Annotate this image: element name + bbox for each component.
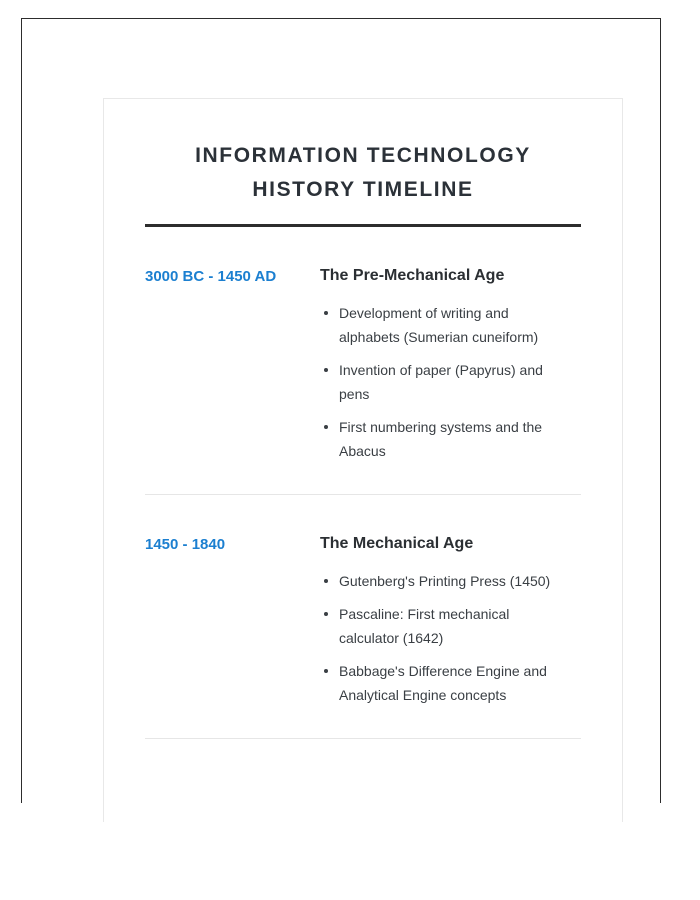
page-title: INFORMATION TECHNOLOGY HISTORY TIMELINE (145, 99, 581, 207)
list-item: Development of writing and alphabets (Su… (320, 301, 551, 349)
timeline-entry: 1450 - 1840 The Mechanical Age Gutenberg… (145, 495, 581, 707)
timeline-entry-items: Development of writing and alphabets (Su… (320, 301, 581, 463)
timeline-divider (145, 738, 581, 739)
timeline-entry-items: Gutenberg's Printing Press (1450)Pascali… (320, 569, 581, 707)
timeline-entry-body: The Pre-Mechanical Age Development of wr… (320, 265, 581, 463)
timeline-entry-body: The Mechanical Age Gutenberg's Printing … (320, 533, 581, 707)
list-item: First numbering systems and the Abacus (320, 415, 551, 463)
page-frame: INFORMATION TECHNOLOGY HISTORY TIMELINE … (21, 18, 661, 803)
timeline-entry-date: 3000 BC - 1450 AD (145, 265, 320, 288)
document-card: INFORMATION TECHNOLOGY HISTORY TIMELINE … (103, 98, 623, 822)
timeline-entry-heading: The Pre-Mechanical Age (320, 265, 581, 287)
timeline-list: 3000 BC - 1450 AD The Pre-Mechanical Age… (145, 227, 581, 739)
timeline-entry-heading: The Mechanical Age (320, 533, 581, 555)
list-item: Babbage's Difference Engine and Analytic… (320, 659, 551, 707)
timeline-entry-date: 1450 - 1840 (145, 533, 320, 556)
document-content: INFORMATION TECHNOLOGY HISTORY TIMELINE … (104, 99, 622, 739)
list-item: Invention of paper (Papyrus) and pens (320, 358, 551, 406)
timeline-entry: 3000 BC - 1450 AD The Pre-Mechanical Age… (145, 227, 581, 463)
list-item: Gutenberg's Printing Press (1450) (320, 569, 551, 593)
list-item: Pascaline: First mechanical calculator (… (320, 602, 551, 650)
